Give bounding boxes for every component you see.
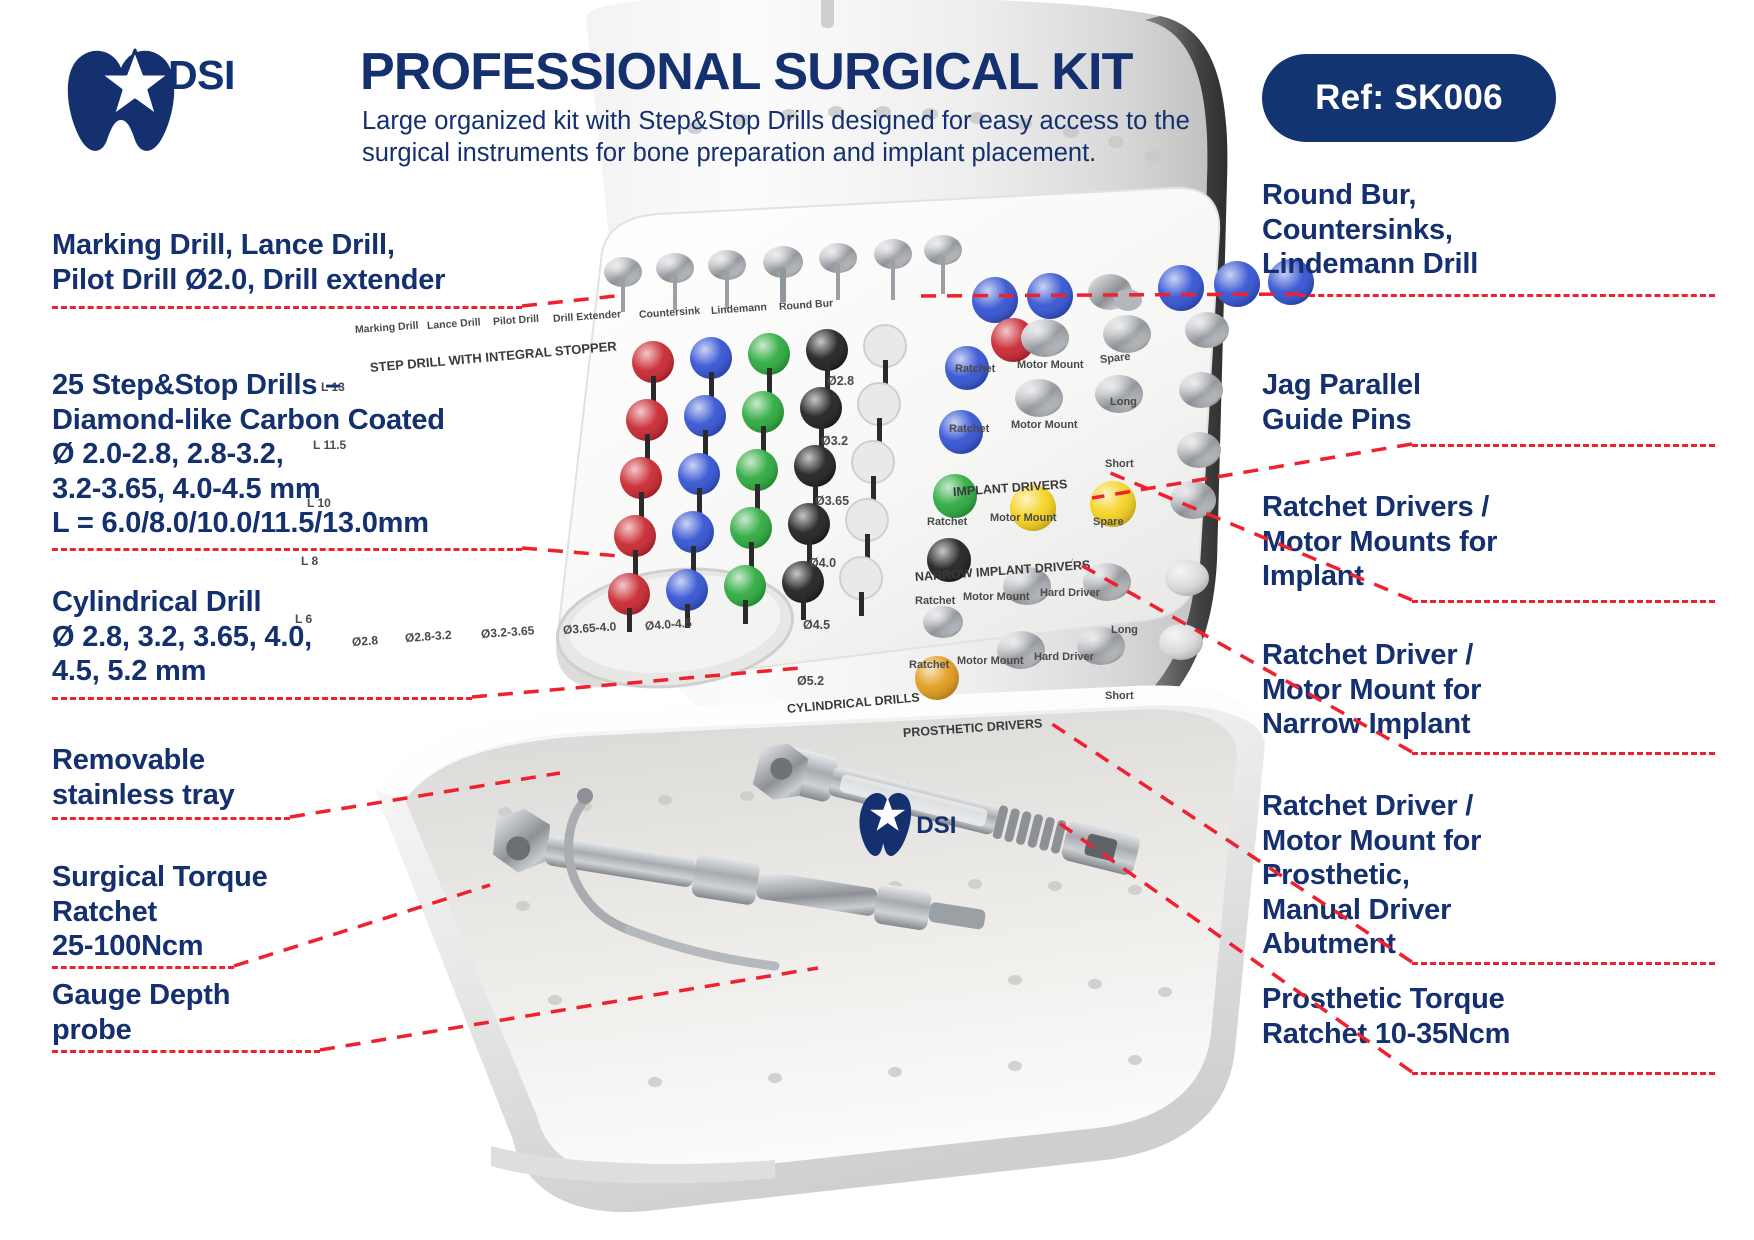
tray-implant-motormount-2: Motor Mount (1011, 419, 1078, 431)
tray-pros-motormount-1: Motor Mount (963, 591, 1030, 603)
rule-cylindrical-drill (52, 697, 472, 700)
tray-implant-ratchet-1: Ratchet (955, 363, 995, 375)
tray-cyl-52: Ø5.2 (797, 674, 824, 688)
rule-removable-tray (52, 817, 290, 820)
tray-cyl-365: Ø3.65 (815, 494, 849, 508)
tray-label-l8: L 8 (301, 554, 318, 568)
callout-round-bur-countersinks: Round Bur, Countersinks, Lindemann Drill (1262, 178, 1742, 282)
tray-guidepin-long: Long (1110, 396, 1137, 408)
page-subtitle: Large organized kit with Step&Stop Drill… (362, 105, 1222, 170)
rule-round-bur (1300, 294, 1715, 297)
tray-implant-motormount-1: Motor Mount (1017, 359, 1084, 371)
rule-surgical-torque-ratchet (52, 966, 234, 969)
tray-guidepin-short: Short (1105, 458, 1134, 470)
tray-pros-long: Long (1111, 624, 1138, 636)
svg-text:DSI: DSI (916, 812, 956, 839)
tray-implant-ratchet-2: Ratchet (949, 423, 989, 435)
callout-jag-parallel-guide-pins: Jag Parallel Guide Pins (1262, 368, 1742, 437)
callout-removable-tray: Removable stainless tray (52, 743, 382, 812)
rule-narrow-implant (1412, 752, 1715, 755)
callout-surgical-torque-ratchet: Surgical Torque Ratchet 25-100Ncm (52, 860, 382, 964)
callout-step-stop-drills: 25 Step&Stop Drills – Diamond-like Carbo… (52, 368, 522, 541)
tray-cyl-32: Ø3.2 (821, 434, 848, 448)
callout-prosthetic-torque-ratchet: Prosthetic Torque Ratchet 10-35Ncm (1262, 982, 1752, 1051)
callout-ratchet-driver-narrow-implant: Ratchet Driver / Motor Mount for Narrow … (1262, 638, 1752, 742)
tray-cyl-40: Ø4.0 (809, 556, 836, 570)
tray-narrow-spare: Spare (1093, 516, 1124, 528)
callout-gauge-depth-probe: Gauge Depth probe (52, 978, 382, 1047)
tray-cyl-45: Ø4.5 (803, 618, 830, 632)
callout-cylindrical-drill: Cylindrical Drill Ø 2.8, 3.2, 3.65, 4.0,… (52, 585, 482, 689)
rule-gauge-depth-probe (52, 1050, 320, 1053)
rule-ratchet-drivers-implant (1412, 600, 1715, 603)
rule-marking-drill (52, 306, 522, 309)
callout-ratchet-drivers-implant: Ratchet Drivers / Motor Mounts for Impla… (1262, 490, 1752, 594)
dsi-wordmark: DSI (168, 52, 235, 99)
page-title: PROFESSIONAL SURGICAL KIT (360, 42, 1133, 102)
rule-prosthetic-torque-ratchet (1412, 1072, 1715, 1075)
tray-pros-harddriver-1: Hard Driver (1040, 587, 1100, 599)
infographic-page: DSI Marking Drill Lance Drill Pilot Dril… (0, 0, 1754, 1240)
tray-cyl-28: Ø2.8 (827, 374, 854, 388)
tray-pros-motormount-2: Motor Mount (957, 655, 1024, 667)
tray-pros-ratchet-2: Ratchet (909, 659, 949, 671)
rule-prosthetic-driver (1412, 962, 1715, 965)
callout-ratchet-driver-prosthetic: Ratchet Driver / Motor Mount for Prosthe… (1262, 789, 1752, 962)
tray-pros-short: Short (1105, 690, 1134, 702)
rule-step-stop-drills (52, 548, 522, 551)
tray-pros-ratchet-1: Ratchet (915, 595, 955, 607)
ref-badge: Ref: SK006 (1262, 54, 1556, 142)
rule-jag-guide-pins (1412, 444, 1715, 447)
tray-pros-harddriver-2: Hard Driver (1034, 651, 1094, 663)
tray-narrow-motormount: Motor Mount (990, 512, 1057, 524)
callout-marking-drill: Marking Drill, Lance Drill, Pilot Drill … (52, 228, 512, 297)
tray-narrow-ratchet: Ratchet (927, 516, 967, 528)
